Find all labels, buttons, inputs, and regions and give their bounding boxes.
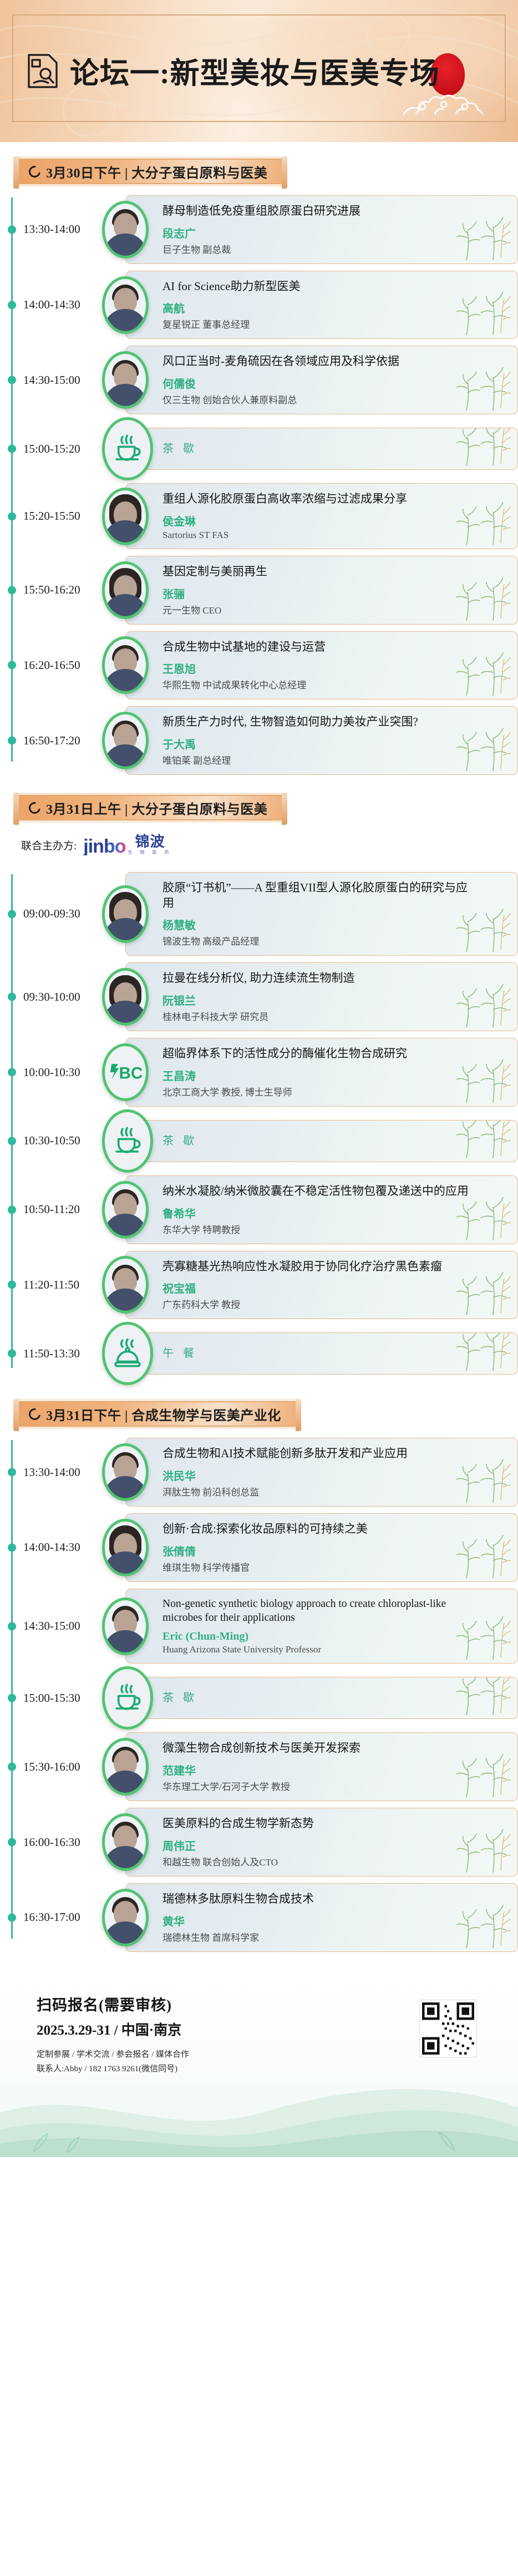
speaker-avatar (102, 351, 149, 409)
jinbo-logo: jinbo 锦波 生 物 医 药 (83, 835, 172, 855)
timeline-dot (8, 1913, 16, 1921)
session-time: 15:00-15:20 (23, 442, 102, 456)
bamboo-decoration (450, 364, 512, 412)
tea-cup-icon (111, 1125, 144, 1157)
timeline-dot (8, 586, 16, 594)
session-time: 13:30-14:00 (23, 222, 102, 236)
session-card[interactable]: 风口正当时-麦角硫因在各领域应用及科学依据 何儒俊 仅三生物 创始合伙人兼原料副… (125, 346, 518, 414)
speaker-avatar (102, 968, 149, 1026)
session-title: 酵母制造低免疫重组胶原蛋白研究进展 (162, 204, 473, 219)
agenda-sections: 3月30日下午 | 大分子蛋白原料与医美 13:30-14:00 酵母制造低免疫… (0, 142, 518, 1955)
session-card[interactable]: 纳米水凝胶/纳米微胶囊在不稳定活性物包覆及递送中的应用 鲁希华 东华大学 特聘教… (125, 1175, 518, 1244)
session-time: 09:30-10:00 (23, 990, 102, 1004)
agenda-row[interactable]: 15:30-16:00 微藻生物合成创新技术与医美开发探索 范建华 华东理工大学… (0, 1729, 518, 1804)
agenda-row[interactable]: 16:50-17:20 新质生产力时代, 生物智造如何助力美妆产业突围? 于大禹… (0, 703, 518, 778)
agenda-row[interactable]: 11:50-13:30 午 餐 (0, 1322, 518, 1385)
speaker-avatar (102, 1443, 149, 1501)
speaker-photo (105, 279, 146, 331)
timeline-dot (8, 376, 16, 384)
timeline-dot (8, 1068, 16, 1077)
speaker-avatar (102, 1519, 149, 1576)
session-title: 茶 歇 (162, 1691, 473, 1705)
clock-ring-icon (27, 799, 43, 815)
tea-cup-icon (102, 1109, 153, 1173)
co-organizer-row: 联合主办方: jinbo 锦波 生 物 医 药 (21, 835, 518, 855)
svg-text:BC: BC (119, 1064, 143, 1083)
timeline-1: 09:00-09:30 胶原“订书机”——A 型重组VII型人源化胶原蛋白的研究… (0, 861, 518, 1385)
sbc-logo-icon: BC (102, 1043, 149, 1101)
session-time: 16:50-17:20 (23, 734, 102, 748)
session-title: 瑞德林多肽原料生物合成技术 (162, 1892, 473, 1907)
section-header-1: 3月31日上午 | 大分子蛋白原料与医美 (19, 795, 282, 820)
clock-ring-icon (27, 163, 43, 179)
bamboo-decoration (450, 1901, 512, 1949)
agenda-row[interactable]: 14:00-14:30 创新·合成:探索化妆品原料的可持续之美 张倩倩 维琪生物… (0, 1510, 518, 1585)
speaker-avatar (102, 276, 149, 334)
session-card[interactable]: 茶 歇 (125, 1120, 518, 1162)
section-title: 3月31日上午 | 大分子蛋白原料与医美 (46, 798, 267, 818)
session-time: 14:00-14:30 (23, 1540, 102, 1554)
timeline-dot (8, 1468, 16, 1477)
session-time: 14:30-15:00 (23, 373, 102, 387)
timeline-dot (8, 1281, 16, 1289)
session-card[interactable]: 医美原料的合成生物学新态势 周伟正 和越生物 联合创始人及CTO (125, 1808, 518, 1877)
speaker-avatar (102, 1738, 149, 1796)
session-card[interactable]: AI for Science助力新型医美 高航 复星锐正 董事总经理 (125, 271, 518, 339)
tea-cup-icon (102, 417, 153, 480)
session-time: 16:20-16:50 (23, 658, 102, 672)
speaker-avatar (102, 636, 149, 694)
session-time: 14:30-15:00 (23, 1619, 102, 1633)
sbc-logo-icon: BC (107, 1061, 144, 1083)
session-card[interactable]: 胶原“订书机”——A 型重组VII型人源化胶原蛋白的研究与应用 杨慧敏 锦波生物… (125, 872, 518, 956)
speaker-avatar (102, 201, 149, 258)
session-time: 16:30-17:00 (23, 1910, 102, 1924)
session-title: 合成生物和AI技术赋能创新多肽开发和产业应用 (162, 1446, 473, 1462)
bamboo-decoration (450, 288, 512, 336)
bamboo-decoration (450, 1056, 512, 1104)
bamboo-decoration (450, 649, 512, 697)
agenda-row[interactable]: 09:00-09:30 胶原“订书机”——A 型重组VII型人源化胶原蛋白的研究… (0, 869, 518, 959)
timeline-dot (8, 1137, 16, 1145)
timeline-dot (8, 1622, 16, 1630)
session-card[interactable]: 瑞德林多肽原料生物合成技术 黄华 瑞德林生物 首席科学家 (125, 1883, 518, 1952)
speaker-avatar (102, 1889, 149, 1946)
session-title: 医美原料的合成生物学新态势 (162, 1816, 473, 1832)
session-card[interactable]: 基因定制与美丽再生 张骊 元一生物 CEO (125, 556, 518, 625)
agenda-row[interactable]: 15:20-15:50 重组人源化胶原蛋白高收率浓缩与过滤成果分享 侯金琳 Sa… (0, 480, 518, 552)
session-title: 基因定制与美丽再生 (162, 564, 473, 580)
agenda-row[interactable]: 16:20-16:50 合成生物中试基地的建设与运营 王恩旭 华熙生物 中试成果… (0, 628, 518, 703)
speaker-avatar (102, 1598, 149, 1655)
session-card[interactable]: 新质生产力时代, 生物智造如何助力美妆产业突围? 于大禹 唯铂莱 副总经理 (125, 706, 518, 775)
session-card[interactable]: 合成生物中试基地的建设与运营 王恩旭 华熙生物 中试成果转化中心总经理 (125, 631, 518, 700)
timeline-dot (8, 1205, 16, 1214)
agenda-row[interactable]: 10:50-11:20 纳米水凝胶/纳米微胶囊在不稳定活性物包覆及递送中的应用 … (0, 1172, 518, 1248)
tea-cup-icon (102, 1666, 153, 1730)
speaker-avatar (102, 1181, 149, 1239)
book-document-icon (26, 52, 60, 90)
bamboo-decoration (450, 428, 512, 467)
session-card[interactable]: 合成生物和AI技术赋能创新多肽开发和产业应用 洪民华 湃肽生物 前沿科创总监 (125, 1438, 518, 1507)
session-title: 拉曼在线分析仪, 助力连续流生物制造 (162, 971, 473, 986)
bamboo-decoration (450, 1751, 512, 1798)
session-card[interactable]: 拉曼在线分析仪, 助力连续流生物制造 阮银兰 桂林电子科技大学 研究员 (125, 962, 518, 1031)
bamboo-decoration (450, 1532, 512, 1579)
session-time: 14:00-14:30 (23, 298, 102, 312)
session-card[interactable]: 超临界体系下的活性成分的酶催化生物合成研究 王昌涛 北京工商大学 教授, 博士生… (125, 1038, 518, 1107)
speaker-photo (105, 1446, 146, 1498)
bamboo-decoration (450, 1332, 512, 1372)
session-card[interactable]: Non-genetic synthetic biology approach t… (125, 1589, 518, 1664)
bamboo-decoration (450, 1194, 512, 1241)
speaker-photo (105, 888, 146, 940)
session-time: 15:30-16:00 (23, 1760, 102, 1774)
timeline-dot (8, 661, 16, 670)
section-title: 3月30日下午 | 大分子蛋白原料与医美 (46, 162, 267, 181)
lunch-cloche-icon (102, 1322, 153, 1385)
timeline-dot (8, 512, 16, 520)
bamboo-decoration (450, 499, 512, 546)
agenda-row[interactable]: 15:00-15:20 茶 歇 (0, 418, 518, 480)
session-card[interactable]: 重组人源化胶原蛋白高收率浓缩与过滤成果分享 侯金琳 Sartorius ST F… (125, 483, 518, 549)
agenda-row[interactable]: 10:30-10:50 茶 歇 (0, 1110, 518, 1172)
page-banner: 论坛一:新型美妆与医美专场 (0, 0, 518, 142)
jinbo-logo-text: jinbo (83, 838, 125, 855)
footer-contact-line: 联系人:Abby / 182 1763 9261(微信同号) (37, 2062, 518, 2074)
session-title: Non-genetic synthetic biology approach t… (162, 1597, 451, 1625)
speaker-photo (105, 639, 146, 691)
section-title: 3月31日下午 | 合成生物学与医美产业化 (46, 1404, 281, 1424)
speaker-photo (105, 1741, 146, 1793)
timeline-0: 13:30-14:00 酵母制造低免疫重组胶原蛋白研究进展 段志广 巨子生物 副… (0, 184, 518, 778)
timeline-dot (8, 445, 16, 453)
session-title: 合成生物中试基地的建设与运营 (162, 640, 473, 655)
agenda-row[interactable]: 09:30-10:00 拉曼在线分析仪, 助力连续流生物制造 阮银兰 桂林电子科… (0, 959, 518, 1035)
session-time: 15:00-15:30 (23, 1691, 102, 1705)
session-time: 11:20-11:50 (23, 1278, 102, 1292)
agenda-row[interactable]: 13:30-14:00 酵母制造低免疫重组胶原蛋白研究进展 段志广 巨子生物 副… (0, 192, 518, 267)
session-card[interactable]: 壳寡糖基光热响应性水凝胶用于协同化疗治疗黑色素瘤 祝宝福 广东药科大学 教授 (125, 1251, 518, 1320)
session-title: AI for Science助力新型医美 (162, 279, 473, 295)
session-title: 风口正当时-麦角硫因在各领域应用及科学依据 (162, 354, 473, 369)
timeline-2: 13:30-14:00 合成生物和AI技术赋能创新多肽开发和产业应用 洪民华 湃… (0, 1427, 518, 1955)
session-title: 创新·合成:探索化妆品原料的可持续之美 (162, 1522, 473, 1537)
footer-title: 扫码报名(需要审核) (37, 1993, 518, 2015)
bamboo-decoration (450, 214, 512, 261)
lunch-cloche-icon (111, 1337, 144, 1370)
session-card[interactable]: 微藻生物合成创新技术与医美开发探索 范建华 华东理工大学/石河子大学 教授 (125, 1732, 518, 1801)
bamboo-decoration (450, 1269, 512, 1316)
agenda-row[interactable]: 11:20-11:50 壳寡糖基光热响应性水凝胶用于协同化疗治疗黑色素瘤 祝宝福… (0, 1248, 518, 1323)
timeline-dot (8, 225, 16, 234)
footer-services-line: 定制参展 / 学术交流 / 参会报名 / 媒体合作 (37, 2048, 518, 2060)
speaker-avatar (102, 1256, 149, 1314)
timeline-dot (8, 301, 16, 309)
footer-subtitle: 2025.3.29-31 / 中国·南京 (37, 2019, 518, 2039)
session-title: 壳寡糖基光热响应性水凝胶用于协同化疗治疗黑色素瘤 (162, 1259, 473, 1275)
speaker-avatar (102, 712, 149, 769)
speaker-avatar (102, 885, 149, 943)
speaker-avatar (102, 1813, 149, 1871)
bamboo-decoration (450, 981, 512, 1028)
agenda-row[interactable]: 15:00-15:30 茶 歇 (0, 1667, 518, 1729)
speaker-photo (105, 1600, 146, 1652)
speaker-photo (105, 1892, 146, 1944)
agenda-row[interactable]: 16:00-16:30 医美原料的合成生物学新态势 周伟正 和越生物 联合创始人… (0, 1804, 518, 1880)
timeline-dot (8, 910, 16, 918)
speaker-photo (105, 354, 146, 406)
co-organizer-label: 联合主办方: (21, 838, 77, 853)
bamboo-decoration (450, 574, 512, 622)
session-time: 09:00-09:30 (23, 907, 102, 921)
session-card[interactable]: 茶 歇 (125, 428, 518, 470)
bamboo-decoration (450, 1826, 512, 1874)
session-time: 13:30-14:00 (23, 1466, 102, 1479)
session-title: 午 餐 (162, 1346, 473, 1361)
bamboo-decoration (450, 1120, 512, 1159)
speaker-photo (105, 564, 146, 616)
speaker-photo (105, 490, 146, 542)
session-title: 重组人源化胶原蛋白高收率浓缩与过滤成果分享 (162, 491, 473, 507)
session-time: 10:50-11:20 (23, 1203, 102, 1216)
jinbo-logo-subtitle: 生 物 医 药 (128, 849, 172, 855)
speaker-photo (105, 204, 146, 256)
agenda-row[interactable]: 15:50-16:20 基因定制与美丽再生 张骊 元一生物 CEO (0, 552, 518, 628)
section-header-0: 3月30日下午 | 大分子蛋白原料与医美 (19, 159, 282, 184)
bamboo-decoration (450, 1677, 512, 1716)
agenda-row[interactable]: 14:30-15:00 风口正当时-麦角硫因在各领域应用及科学依据 何儒俊 仅三… (0, 342, 518, 418)
agenda-row[interactable]: 14:30-15:00 Non-genetic synthetic biolog… (0, 1585, 518, 1667)
session-time: 10:00-10:30 (23, 1066, 102, 1079)
timeline-dot (8, 1543, 16, 1551)
speaker-photo (105, 714, 146, 767)
agenda-row[interactable]: 10:00-10:30 BC 超临界体系下的活性成分的酶催化生物合成研究 王昌涛… (0, 1035, 518, 1110)
speaker-avatar (102, 488, 149, 545)
speaker-photo (105, 1184, 146, 1236)
session-title: 茶 歇 (162, 442, 473, 456)
page-footer: 扫码报名(需要审核) 2025.3.29-31 / 中国·南京 定制参展 / 学… (0, 1974, 518, 2157)
session-time: 16:00-16:30 (23, 1835, 102, 1849)
session-time: 15:50-16:20 (23, 583, 102, 597)
page-title: 论坛一:新型美妆与医美专场 (70, 50, 440, 92)
timeline-dot (8, 1350, 16, 1358)
agenda-row[interactable]: 14:00-14:30 AI for Science助力新型医美 高航 复星锐正… (0, 267, 518, 343)
session-card[interactable]: 酵母制造低免疫重组胶原蛋白研究进展 段志广 巨子生物 副总裁 (125, 195, 518, 264)
session-time: 10:30-10:50 (23, 1134, 102, 1148)
session-time: 15:20-15:50 (23, 509, 102, 523)
timeline-dot (8, 993, 16, 1001)
tea-cup-icon (111, 433, 144, 465)
bamboo-decoration (450, 905, 512, 953)
clock-ring-icon (27, 1406, 43, 1422)
timeline-dot (8, 1694, 16, 1702)
tea-cup-icon (111, 1682, 144, 1714)
bamboo-decoration (450, 1456, 512, 1504)
session-title: 纳米水凝胶/纳米微胶囊在不稳定活性物包覆及递送中的应用 (162, 1184, 473, 1199)
session-title: 胶原“订书机”——A 型重组VII型人源化胶原蛋白的研究与应用 (162, 880, 473, 911)
bamboo-decoration (450, 1613, 512, 1661)
session-title: 茶 歇 (162, 1134, 473, 1148)
timeline-dot (8, 1838, 16, 1847)
session-card[interactable]: 茶 歇 (125, 1677, 518, 1719)
speaker-photo (105, 1522, 146, 1574)
session-time: 11:50-13:30 (23, 1347, 102, 1361)
bamboo-decoration (450, 724, 512, 772)
timeline-dot (8, 737, 16, 745)
section-header-2: 3月31日下午 | 合成生物学与医美产业化 (19, 1401, 296, 1427)
speaker-photo (105, 1816, 146, 1868)
timeline-dot (8, 1763, 16, 1771)
session-card[interactable]: 创新·合成:探索化妆品原料的可持续之美 张倩倩 维琪生物 科学传播官 (125, 1513, 518, 1582)
agenda-row[interactable]: 13:30-14:00 合成生物和AI技术赋能创新多肽开发和产业应用 洪民华 湃… (0, 1434, 518, 1510)
session-title: 新质生产力时代, 生物智造如何助力美妆产业突围? (162, 714, 473, 730)
speaker-avatar (102, 561, 149, 619)
jinbo-logo-cn: 锦波 (135, 835, 165, 849)
session-card[interactable]: 午 餐 (125, 1332, 518, 1375)
speaker-photo (105, 1259, 146, 1311)
session-title: 超临界体系下的活性成分的酶催化生物合成研究 (162, 1046, 473, 1062)
session-title: 微藻生物合成创新技术与医美开发探索 (162, 1741, 473, 1756)
speaker-photo (105, 971, 146, 1023)
agenda-row[interactable]: 16:30-17:00 瑞德林多肽原料生物合成技术 黄华 瑞德林生物 首席科学家 (0, 1880, 518, 1955)
